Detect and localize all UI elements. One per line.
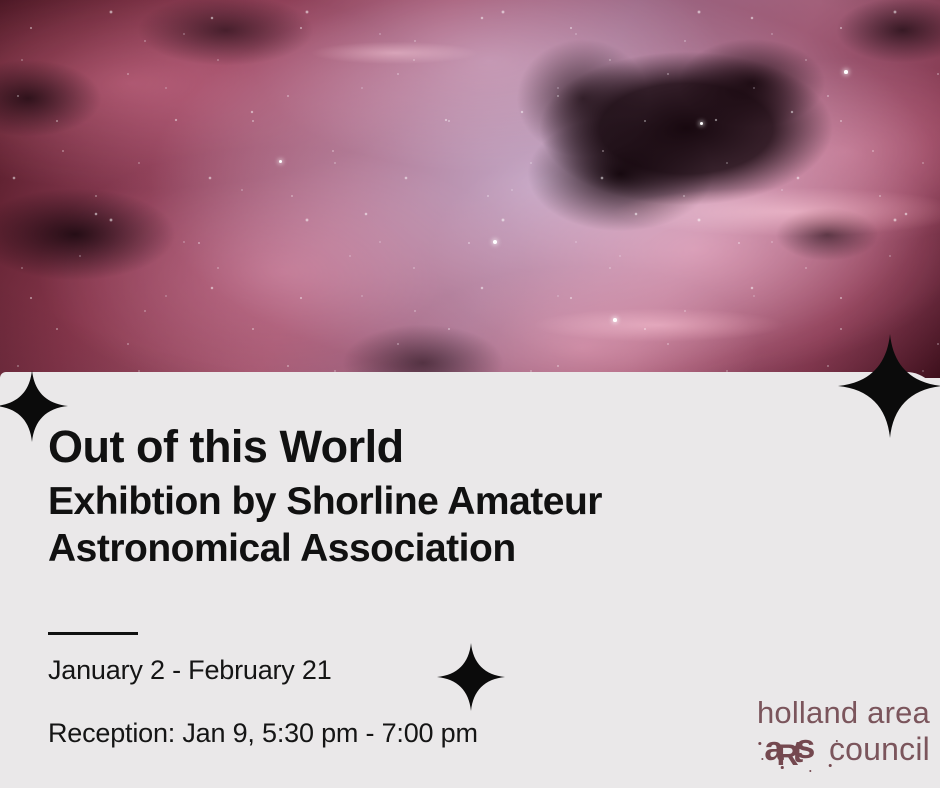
logo-top-line: holland area	[757, 697, 930, 728]
divider	[48, 632, 138, 635]
headline-block: Out of this World Exhibtion by Shorline …	[48, 424, 888, 573]
holland-area-arts-council-logo: holland area aRts council	[757, 697, 930, 766]
bright-star	[613, 318, 617, 322]
sparkle-middle-icon	[437, 641, 505, 713]
nebula-hero-image	[0, 0, 940, 378]
nebula-vignette	[0, 0, 940, 378]
bright-star	[493, 240, 497, 244]
subtitle-line-1: Exhibtion by Shorline Amateur	[48, 479, 888, 526]
logo-speck	[762, 758, 764, 760]
bright-star	[844, 70, 848, 74]
logo-speck	[758, 742, 761, 745]
logo-council-word: council	[829, 733, 930, 765]
bright-star	[700, 122, 703, 125]
logo-speck	[781, 766, 784, 769]
logo-arts-wordmark: aRts	[765, 732, 824, 766]
reception-details: Reception: Jan 9, 5:30 pm - 7:00 pm	[48, 718, 478, 749]
logo-bottom-line: aRts council	[757, 732, 930, 766]
poster: Out of this World Exhibtion by Shorline …	[0, 0, 940, 788]
exhibition-dates: January 2 - February 21	[48, 655, 332, 686]
logo-letter-s: s	[796, 730, 812, 764]
bright-star	[279, 160, 282, 163]
subtitle-line-2: Astronomical Association	[48, 526, 888, 573]
page-title: Out of this World	[48, 424, 888, 469]
